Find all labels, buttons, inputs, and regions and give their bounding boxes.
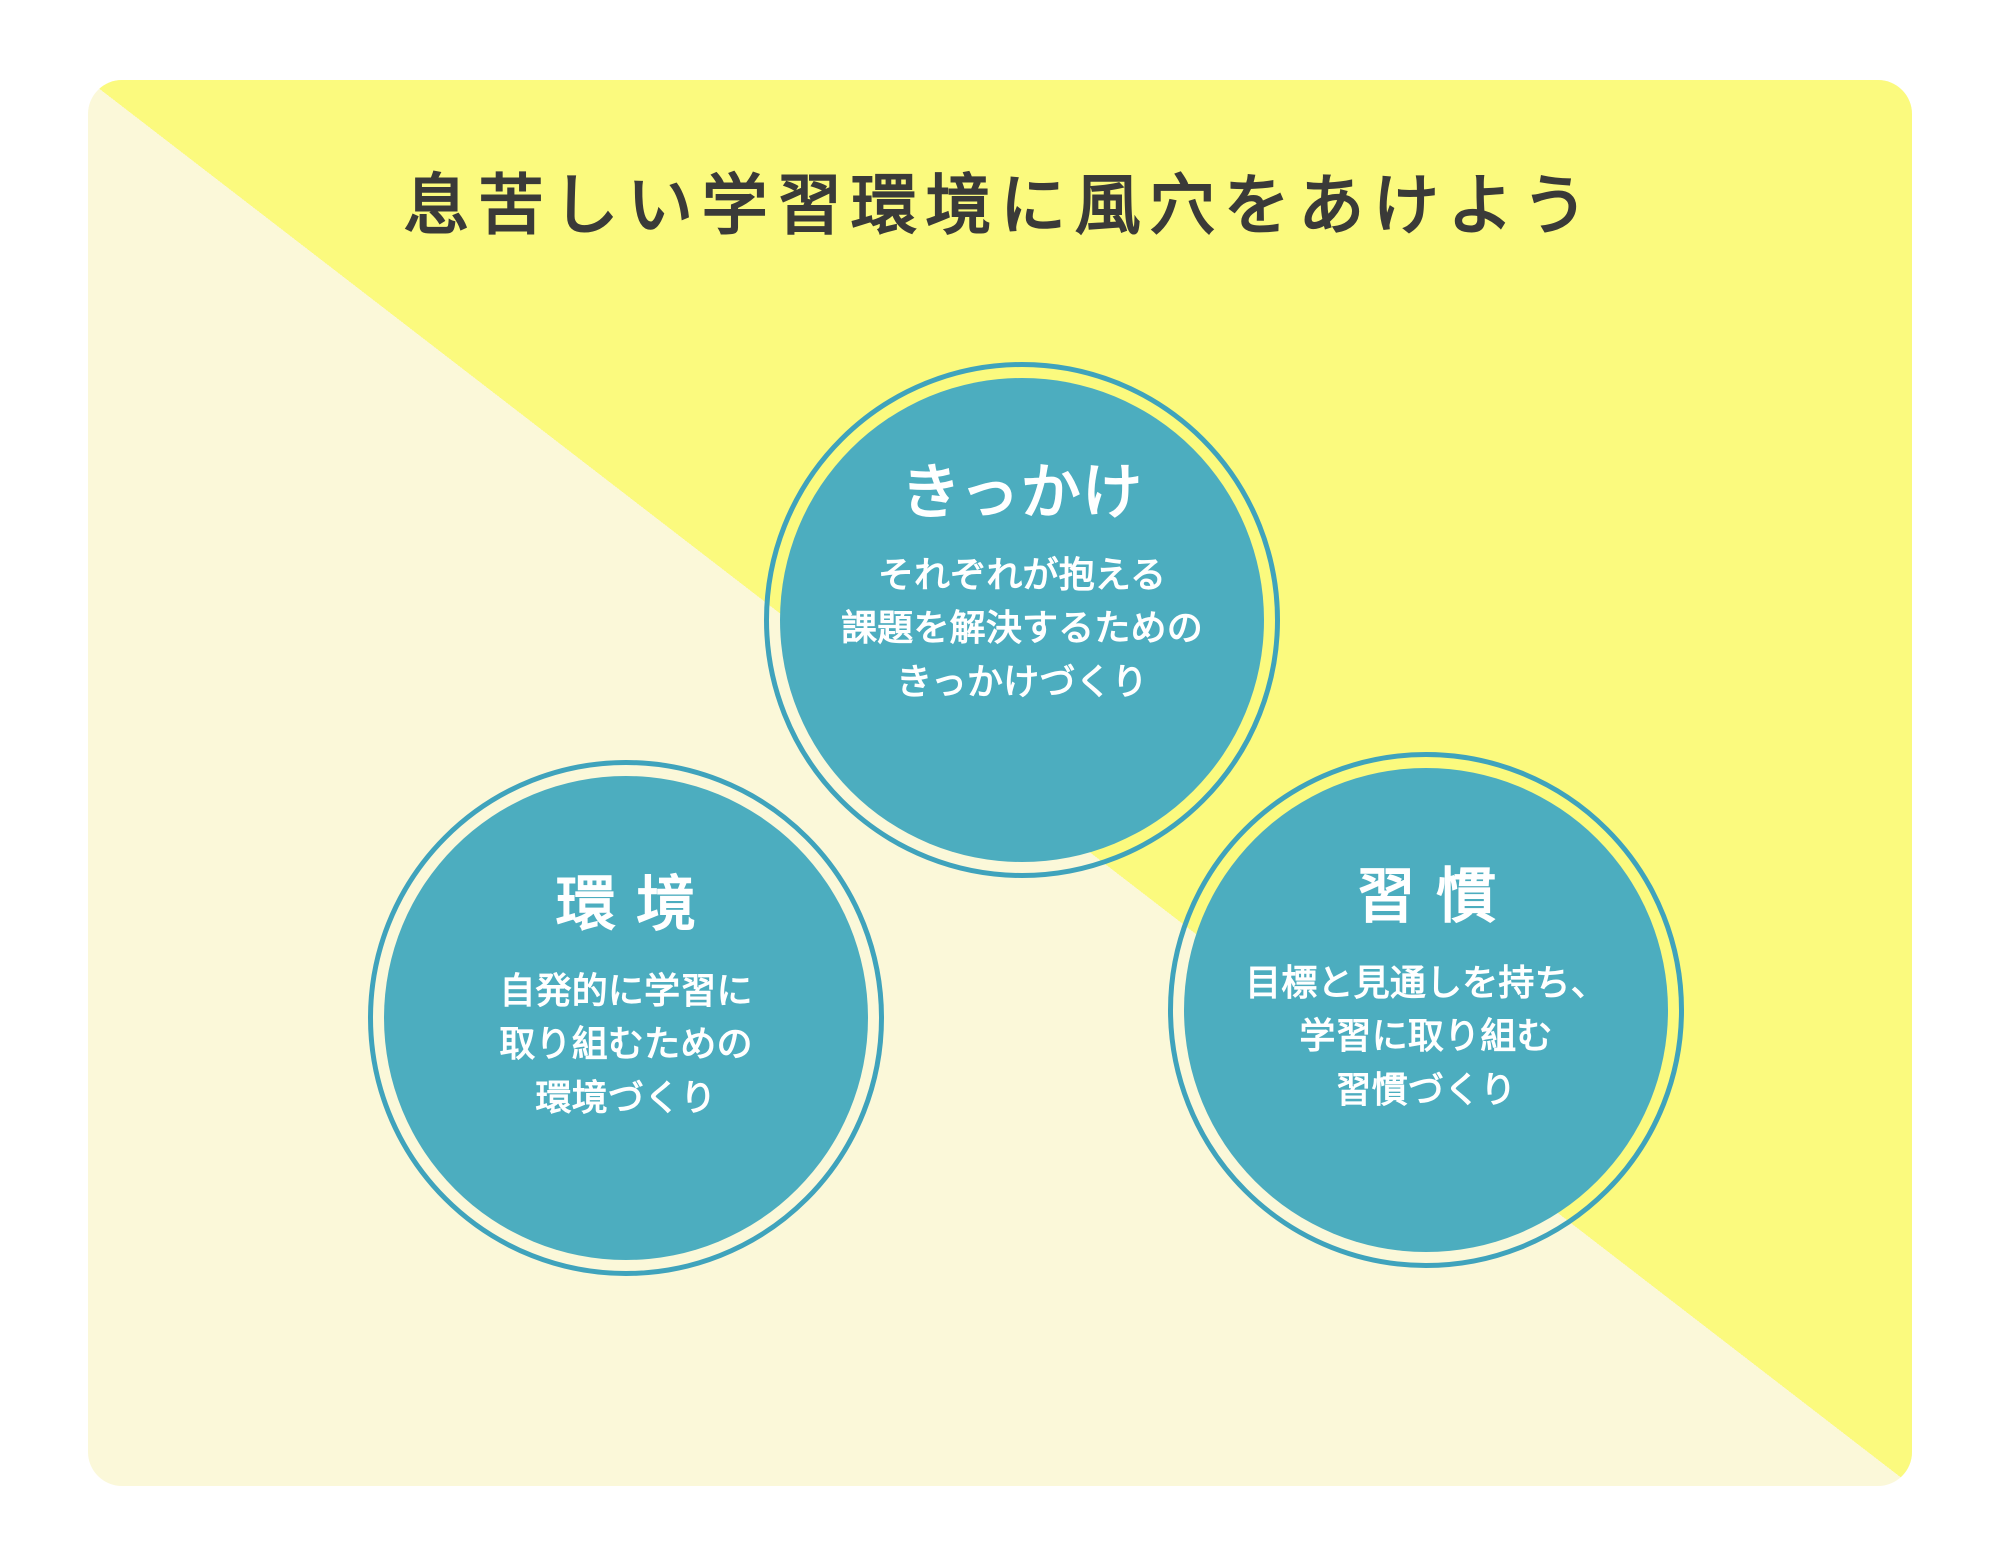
circle-disc: 習慣 目標と見通しを持ち、 学習に取り組む 習慣づくり: [1184, 768, 1668, 1252]
circle-disc: 環境 自発的に学習に 取り組むための 環境づくり: [384, 776, 868, 1260]
circle-description: それぞれが抱える 課題を解決するための きっかけづくり: [841, 548, 1203, 708]
slide-card: 息苦しい学習環境に風穴をあけよう きっかけ それぞれが抱える 課題を解決するため…: [88, 80, 1912, 1486]
circle-description: 自発的に学習に 取り組むための 環境づくり: [499, 964, 752, 1124]
concept-circle-kankyo[interactable]: 環境 自発的に学習に 取り組むための 環境づくり: [368, 760, 884, 1276]
circle-description: 目標と見通しを持ち、 学習に取り組む 習慣づくり: [1245, 956, 1607, 1116]
concept-circle-kikkake[interactable]: きっかけ それぞれが抱える 課題を解決するための きっかけづくり: [764, 362, 1280, 878]
circle-disc: きっかけ それぞれが抱える 課題を解決するための きっかけづくり: [780, 378, 1264, 862]
circle-heading: 習慣: [1335, 864, 1516, 930]
concept-circle-shukan[interactable]: 習慣 目標と見通しを持ち、 学習に取り組む 習慣づくり: [1168, 752, 1684, 1268]
page-title: 息苦しい学習環境に風穴をあけよう: [88, 152, 1912, 248]
circle-heading: 環境: [535, 872, 716, 938]
circle-heading: きっかけ: [901, 460, 1143, 526]
